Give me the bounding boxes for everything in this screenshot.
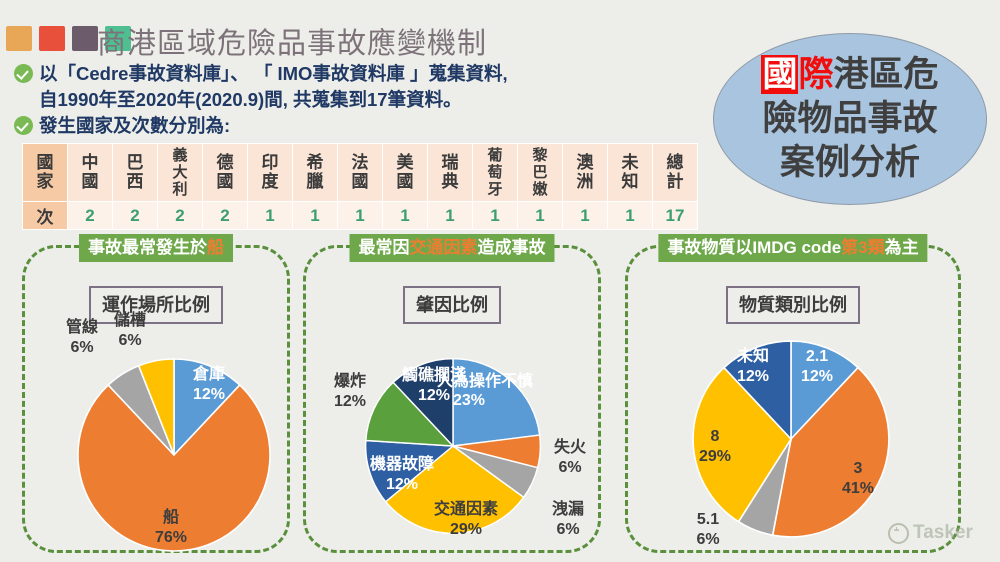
table-country-header: 澳洲 <box>563 144 608 202</box>
table-country-header: 中國 <box>68 144 113 202</box>
pie3-label-class51-value: 6% <box>686 530 730 550</box>
table-country-header: 瑞典 <box>428 144 473 202</box>
pie2-label-machine-failure-name: 機器故障 <box>370 456 434 473</box>
pie3-label-class3-name: 3 <box>854 460 863 477</box>
table-country-header: 黎巴嫩 <box>518 144 563 202</box>
check-circle-icon <box>14 64 33 83</box>
pie3-label-class8-value: 29% <box>694 447 736 467</box>
table-count-value: 2 <box>113 202 158 230</box>
table-country-header: 希臘 <box>293 144 338 202</box>
pie3-label-class51: 5.1 6% <box>686 510 730 550</box>
table-count-value: 1 <box>428 202 473 230</box>
pie2-label-explosion: 爆炸 12% <box>326 372 374 412</box>
oval-title-line-2: 險物品事故 <box>761 97 938 141</box>
pie2-label-explosion-name: 爆炸 <box>334 373 366 390</box>
pie1-label-ship-value: 76% <box>144 528 198 548</box>
pie2-label-explosion-value: 12% <box>326 392 374 412</box>
pie1-label-ship-name: 船 <box>163 509 179 526</box>
table-country-header: 葡萄牙 <box>473 144 518 202</box>
panel-badge-text-highlight: 船 <box>207 238 224 257</box>
pie2-label-fire-name: 失火 <box>554 439 586 456</box>
table-count-value: 1 <box>338 202 383 230</box>
panel-badge-text-pre: 最常因 <box>359 238 410 257</box>
table-country-header: 義大利 <box>158 144 203 202</box>
pie1-label-tank-name: 儲槽 <box>114 312 146 329</box>
table-count-value: 1 <box>383 202 428 230</box>
pie1-label-warehouse-value: 12% <box>182 385 236 405</box>
bullet-text: 發生國家及次數分別為: <box>39 113 230 138</box>
pie1-label-tank: 儲槽 6% <box>100 311 160 351</box>
table-count-value: 2 <box>68 202 113 230</box>
pie2-label-machine-failure: 機器故障 12% <box>362 455 442 495</box>
panel-badge-text-pre: 事故物質以IMDG code <box>667 238 841 257</box>
pie3-label-class21: 2.1 12% <box>793 347 841 387</box>
table-country-header: 法國 <box>338 144 383 202</box>
table-row-counts: 次222211111111117 <box>23 202 698 230</box>
pie2-label-traffic-name: 交通因素 <box>434 501 498 518</box>
tasker-logo-icon <box>888 523 909 544</box>
pie2-label-grounding-value: 12% <box>396 386 472 406</box>
swatch-2 <box>39 26 65 51</box>
pie1-label-warehouse-name: 倉庫 <box>193 366 225 383</box>
pie2-label-machine-failure-value: 12% <box>362 475 442 495</box>
page-title: 商港區域危險品事故應變機制 <box>97 20 487 62</box>
bullet-item-continuation: 自1990年至2020年(2020.9)間, 共蒐集到17筆資料。 <box>14 87 654 112</box>
slide-subject-badge: 國際港區危 險物品事故 案例分析 <box>713 33 987 205</box>
watermark-text: Tasker <box>913 522 973 544</box>
pie2-label-grounding: 觸礁擱淺 12% <box>396 366 472 406</box>
oval-title-line-3: 案例分析 <box>761 141 938 185</box>
table-country-header: 巴西 <box>113 144 158 202</box>
oval-title-line-1: 國際港區危 <box>761 53 938 97</box>
pie2-label-fire: 失火 6% <box>548 438 592 478</box>
panel-badge-text-highlight: 交通因素 <box>410 238 478 257</box>
pie2-label-grounding-name: 觸礁擱淺 <box>402 367 466 384</box>
table-country-header: 總計 <box>653 144 698 202</box>
swatch-3 <box>72 26 98 51</box>
pie1-label-tank-value: 6% <box>100 331 160 351</box>
panel-badge-2: 最常因交通因素造成事故 <box>350 234 555 262</box>
pie1-label-pipeline-name: 管線 <box>66 319 98 336</box>
pie3-label-class3: 3 41% <box>839 459 877 499</box>
table-country-header: 印度 <box>248 144 293 202</box>
panel-badge-1: 事故最常發生於船 <box>79 234 233 262</box>
table-corner-label: 國家 <box>23 144 68 202</box>
oval-title-rest: 港區危 <box>834 55 939 94</box>
pie2-label-leak-value: 6% <box>546 520 590 540</box>
table-country-header: 美國 <box>383 144 428 202</box>
oval-title-red-char: 際 <box>798 55 833 94</box>
pie1-label-ship: 船 76% <box>144 508 198 548</box>
pie3-label-unknown-name: 未知 <box>737 348 769 365</box>
pie2-label-fire-value: 6% <box>548 458 592 478</box>
bullet-item: 以「Cedre事故資料庫」、 「 IMO事故資料庫 」蒐集資料, <box>14 61 654 86</box>
panel-subtitle-2: 肇因比例 <box>403 286 501 324</box>
panel-badge-text-pre: 事故最常發生於 <box>88 238 207 257</box>
table-count-value: 1 <box>248 202 293 230</box>
panel-subtitle-3: 物質類別比例 <box>726 286 860 324</box>
pie2-label-leak: 洩漏 6% <box>546 500 590 540</box>
bullet-text: 以「Cedre事故資料庫」、 「 IMO事故資料庫 」蒐集資料, <box>39 61 508 86</box>
table-count-value: 1 <box>608 202 653 230</box>
table-count-value: 1 <box>518 202 563 230</box>
swatch-1 <box>6 26 32 51</box>
panel-badge-3: 事故物質以IMDG code第3類為主 <box>658 234 927 262</box>
bullet-item: 發生國家及次數分別為: <box>14 113 654 138</box>
table-row-countries: 國家中國巴西義大利德國印度希臘法國美國瑞典葡萄牙黎巴嫩澳洲未知總計 <box>23 144 698 202</box>
pie3-label-class8-name: 8 <box>711 428 720 445</box>
table-count-value: 1 <box>473 202 518 230</box>
panel-badge-text-highlight: 第3類 <box>841 238 884 257</box>
pie3-label-class8: 8 29% <box>694 427 736 467</box>
pie2-label-leak-name: 洩漏 <box>552 501 584 518</box>
table-country-header: 德國 <box>203 144 248 202</box>
panel-badge-text-post: 為主 <box>885 238 919 257</box>
table-row-label-count: 次 <box>23 202 68 230</box>
panel-badge-text-post: 造成事故 <box>478 238 546 257</box>
table-count-value: 1 <box>293 202 338 230</box>
pie3-label-unknown-value: 12% <box>727 367 779 387</box>
pie2-label-traffic: 交通因素 29% <box>424 500 508 540</box>
table-count-value: 2 <box>203 202 248 230</box>
pie3-label-class21-name: 2.1 <box>806 348 828 365</box>
pie1-label-warehouse: 倉庫 12% <box>182 365 236 405</box>
bullet-text: 自1990年至2020年(2020.9)間, 共蒐集到17筆資料。 <box>39 87 462 112</box>
pie3-label-class3-value: 41% <box>839 479 877 499</box>
pie3-label-unknown: 未知 12% <box>727 347 779 387</box>
check-circle-icon <box>14 116 33 135</box>
table-count-value: 1 <box>563 202 608 230</box>
table-country-header: 未知 <box>608 144 653 202</box>
pie3-label-class51-name: 5.1 <box>697 511 719 528</box>
pie3-label-class21-value: 12% <box>793 367 841 387</box>
table-count-value: 17 <box>653 202 698 230</box>
watermark: Tasker <box>888 522 973 544</box>
bullet-list: 以「Cedre事故資料庫」、 「 IMO事故資料庫 」蒐集資料, 自1990年至… <box>14 61 654 139</box>
country-count-table: 國家中國巴西義大利德國印度希臘法國美國瑞典葡萄牙黎巴嫩澳洲未知總計 次22221… <box>22 143 698 230</box>
slide-canvas: 商港區域危險品事故應變機制 以「Cedre事故資料庫」、 「 IMO事故資料庫 … <box>0 0 1000 562</box>
table-count-value: 2 <box>158 202 203 230</box>
oval-title-highlight-char: 國 <box>761 55 798 94</box>
pie2-label-traffic-value: 29% <box>424 520 508 540</box>
